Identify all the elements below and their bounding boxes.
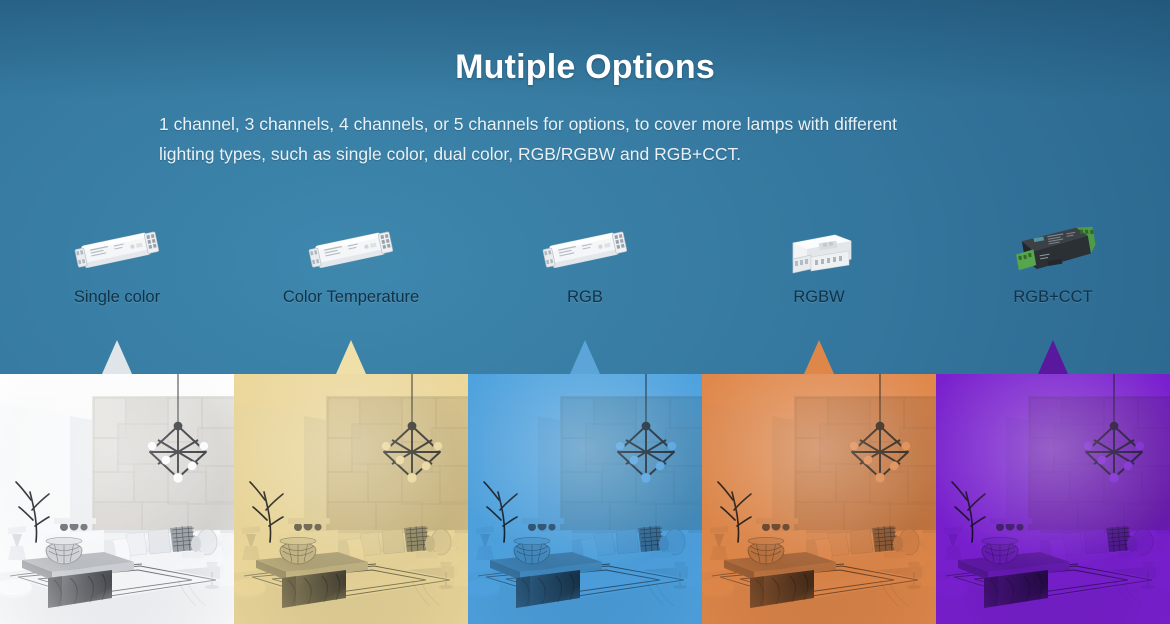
product-label: RGBW bbox=[793, 288, 844, 307]
led-controller-white-slim-icon bbox=[71, 216, 163, 286]
room-panel-color-temperature-room bbox=[234, 374, 468, 624]
arrow-cell-1 bbox=[234, 336, 468, 374]
led-controller-din-rail-icon bbox=[777, 216, 861, 286]
product-item-color-temperature[interactable]: Color Temperature bbox=[234, 216, 468, 336]
page-subtitle: 1 channel, 3 channels, 4 channels, or 5 … bbox=[155, 109, 1015, 169]
product-label: Color Temperature bbox=[283, 288, 419, 307]
product-item-rgbw[interactable]: RGBW bbox=[702, 216, 936, 336]
triangle-up-icon bbox=[570, 340, 600, 374]
led-controller-black-terminals-icon bbox=[1006, 216, 1100, 286]
arrow-cell-0 bbox=[0, 336, 234, 374]
living-room-scene bbox=[0, 374, 234, 624]
product-row: Single color Color Temperature bbox=[0, 216, 1170, 336]
product-label: RGB bbox=[567, 288, 603, 307]
subtitle-line-2: lighting types, such as single color, du… bbox=[159, 139, 1015, 169]
room-panel-rgb-room bbox=[468, 374, 702, 624]
product-label: Single color bbox=[74, 288, 160, 307]
led-controller-white-slim-icon bbox=[305, 216, 397, 286]
product-item-single-color[interactable]: Single color bbox=[0, 216, 234, 336]
arrow-cell-4 bbox=[936, 336, 1170, 374]
triangle-up-icon bbox=[102, 340, 132, 374]
arrow-cell-3 bbox=[702, 336, 936, 374]
header: Mutiple Options 1 channel, 3 channels, 4… bbox=[0, 0, 1170, 169]
led-controller-white-slim-icon bbox=[539, 216, 631, 286]
living-room-scene bbox=[702, 374, 936, 624]
room-panel-row bbox=[0, 374, 1170, 624]
triangle-up-icon bbox=[804, 340, 834, 374]
arrow-row bbox=[0, 336, 1170, 374]
living-room-scene bbox=[234, 374, 468, 624]
arrow-cell-2 bbox=[468, 336, 702, 374]
room-panel-rgb-cct-room bbox=[936, 374, 1170, 624]
page-title: Mutiple Options bbox=[0, 48, 1170, 87]
triangle-up-icon bbox=[1038, 340, 1068, 374]
subtitle-line-1: 1 channel, 3 channels, 4 channels, or 5 … bbox=[159, 109, 1015, 139]
room-panel-single-color-room bbox=[0, 374, 234, 624]
triangle-up-icon bbox=[336, 340, 366, 374]
living-room-scene bbox=[468, 374, 702, 624]
product-label: RGB+CCT bbox=[1013, 288, 1092, 307]
living-room-scene bbox=[936, 374, 1170, 624]
product-item-rgb[interactable]: RGB bbox=[468, 216, 702, 336]
room-panel-rgbw-room bbox=[702, 374, 936, 624]
product-item-rgb-cct[interactable]: RGB+CCT bbox=[936, 216, 1170, 336]
